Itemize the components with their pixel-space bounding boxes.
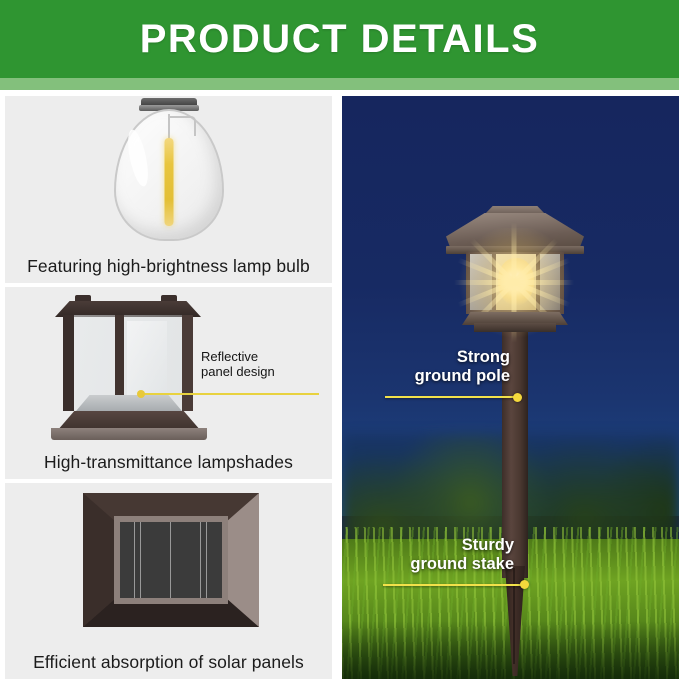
page-title: PRODUCT DETAILS [140,17,540,62]
header-accent-strip [0,78,679,90]
callout-reflective-leader-line [139,393,319,395]
callout-reflective-line1: Reflective [201,349,325,364]
product-photo: Strong ground pole Sturdy ground stake [342,96,679,679]
solar-cell-divider [206,522,207,598]
feature-caption-bulb: Featuring high-brightness lamp bulb [5,256,332,277]
feature-cell-lamp-bulb: Featuring high-brightness lamp bulb [5,96,332,283]
lampshade-icon [49,295,209,440]
callout-pole-line1: Strong [384,348,510,367]
solar-cell-divider [200,522,201,598]
callout-reflective-panel: Reflective panel design [201,349,325,379]
callout-pole-dot [513,393,522,402]
lantern-head [440,206,590,331]
callout-strong-ground-pole: Strong ground pole [384,348,510,386]
bulb-bracket [168,116,196,136]
callout-reflective-line2: panel design [201,364,325,379]
lantern-bulb [498,258,534,306]
content-area: Featuring high-brightness lamp bulb [0,96,679,679]
lamp-bulb-image [5,96,332,241]
feature-caption-solar: Efficient absorption of solar panels [5,652,332,673]
product-details-infographic: PRODUCT DETAILS Featuring high-brightn [0,0,679,679]
feature-caption-lampshade: High-transmittance lampshades [5,452,332,473]
callout-stake-line1: Sturdy [382,536,514,555]
solar-panel-image [5,483,332,637]
lantern-base-collar [474,323,556,332]
callout-reflective-dot [137,390,145,398]
lampshade-foot [51,428,207,440]
left-feature-column: Featuring high-brightness lamp bulb [5,96,332,679]
solar-cell-divider [140,522,141,598]
feature-cell-solar-panel: Efficient absorption of solar panels [5,483,332,679]
bulb-icon [109,98,229,238]
lampshade-glass-highlight [127,321,167,401]
bulb-led-filament [164,138,173,226]
lantern-glass-right [540,254,560,310]
solar-cell-array [120,522,222,598]
callout-stake-line2: ground stake [382,555,514,574]
callout-sturdy-ground-stake: Sturdy ground stake [382,536,514,574]
lantern-glass-left [470,254,492,310]
callout-pole-leader-line [385,396,517,398]
feature-cell-lampshade: Reflective panel design High-transmittan… [5,287,332,479]
callout-pole-line2: ground pole [384,367,510,386]
callout-stake-leader-line [383,584,525,586]
solar-panel-icon [83,493,259,627]
lampshade-image: Reflective panel design [5,287,332,437]
solar-cell-divider [170,522,171,598]
solar-cell-divider [134,522,135,598]
header-banner: PRODUCT DETAILS [0,0,679,78]
callout-stake-dot [520,580,529,589]
ground-stake-rib [513,568,515,664]
